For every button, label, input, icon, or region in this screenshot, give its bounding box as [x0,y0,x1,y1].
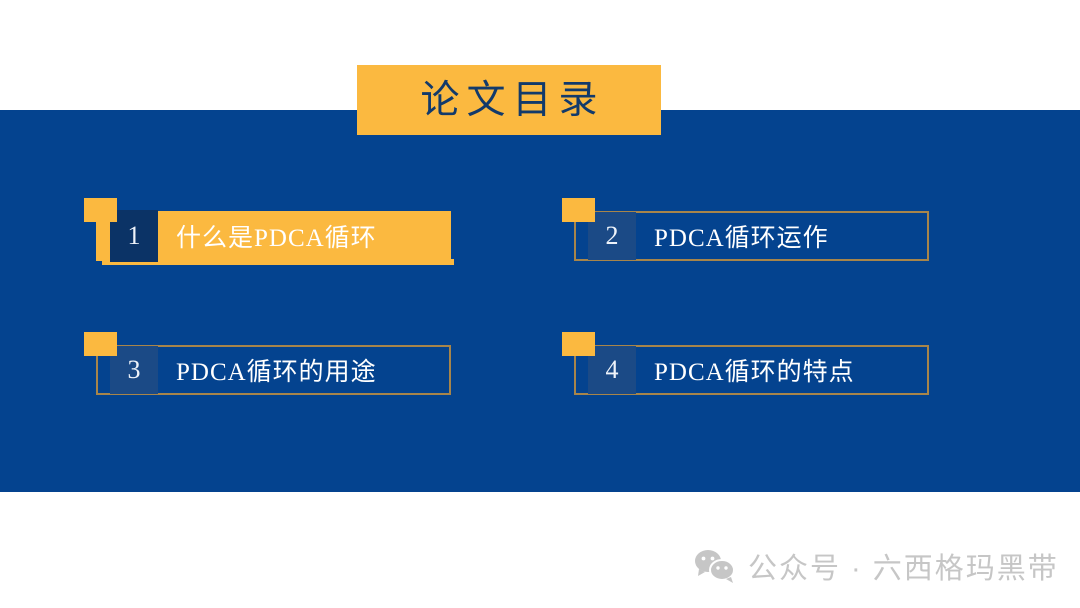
wechat-icon [694,548,736,584]
toc-item-3-label: PDCA循环的用途 [176,345,377,395]
toc-item-4-number: 4 [606,357,619,383]
toc-item-1-number-cell: 1 [110,210,158,262]
toc-item-1-label: 什么是PDCA循环 [176,211,377,261]
toc-item-3[interactable]: 3 PDCA循环的用途 [96,345,451,395]
toc-item-3-number: 3 [128,357,141,383]
toc-item-4[interactable]: 4 PDCA循环的特点 [574,345,929,395]
toc-item-2-number: 2 [606,223,619,249]
table-of-contents: 1 什么是PDCA循环 2 PDCA循环运作 3 PDCA循环的用途 [0,110,1080,492]
toc-item-4-number-cell: 4 [588,346,636,394]
toc-item-1-number: 1 [128,223,141,249]
toc-item-2-label: PDCA循环运作 [654,211,829,261]
corner-tab-icon [562,332,595,356]
page-title: 论文目录 [413,81,604,120]
title-banner: 论文目录 [357,65,661,135]
toc-item-2[interactable]: 2 PDCA循环运作 [574,211,929,261]
toc-item-4-label: PDCA循环的特点 [654,345,855,395]
toc-item-3-number-cell: 3 [110,346,158,394]
watermark: 公众号 · 六西格玛黑带 [694,540,1059,592]
toc-item-1[interactable]: 1 什么是PDCA循环 [96,211,451,261]
corner-tab-icon [84,332,117,356]
toc-item-2-number-cell: 2 [588,212,636,260]
corner-tab-icon [84,198,117,222]
slide-canvas: 论文目录 1 什么是PDCA循环 2 PDCA循环运作 3 [0,0,1080,608]
watermark-text: 公众号 · 六西格玛黑带 [748,545,1059,587]
corner-tab-icon [562,198,595,222]
